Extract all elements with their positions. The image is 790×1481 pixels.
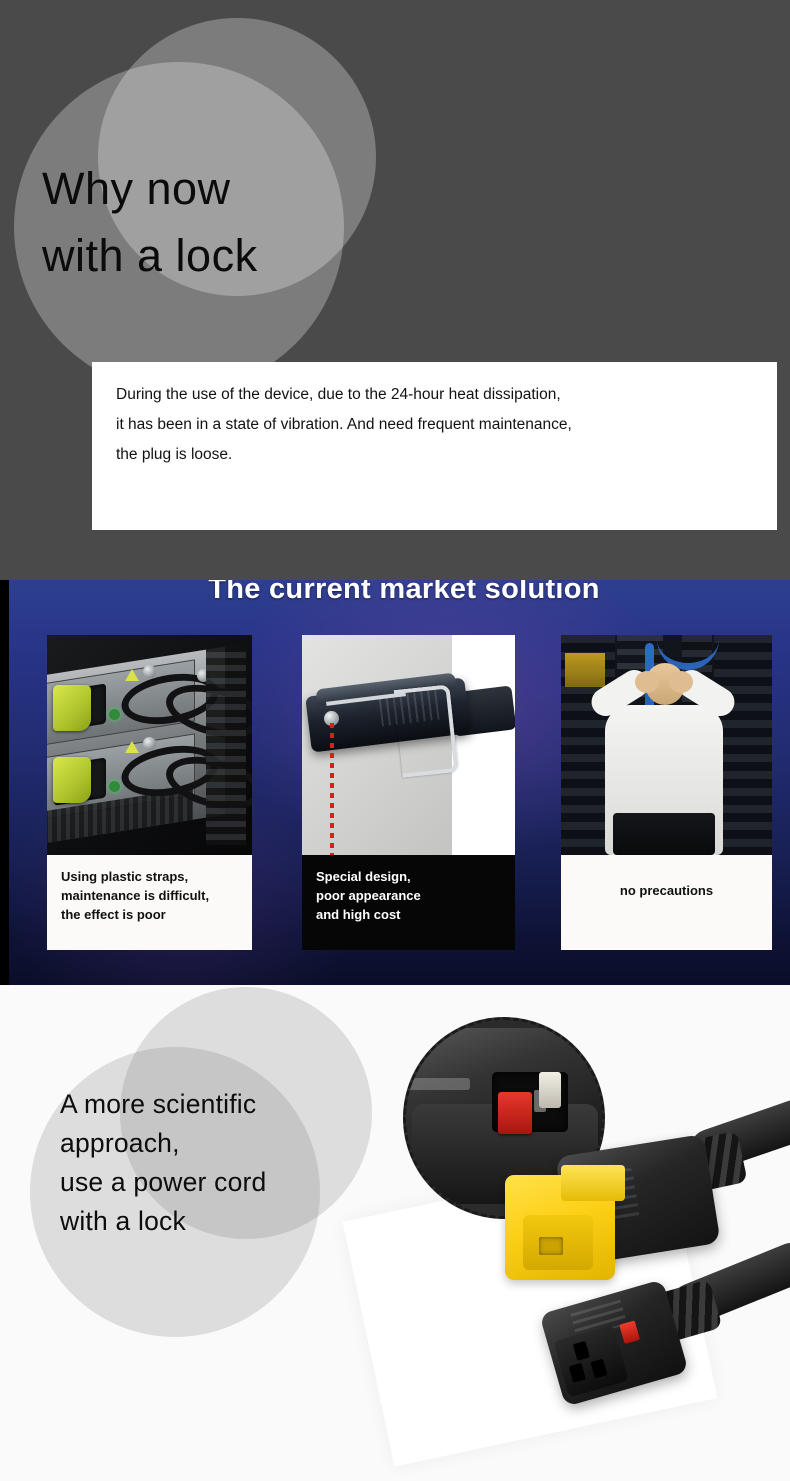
red-lock-button-icon bbox=[498, 1092, 532, 1134]
wire-retention-bracket bbox=[394, 684, 459, 777]
market-card: Using plastic straps, maintenance is dif… bbox=[47, 635, 252, 950]
technician-hand bbox=[635, 671, 659, 693]
rack-equipment-panel bbox=[565, 653, 605, 687]
market-card: Special design, poor appearance and high… bbox=[302, 635, 515, 950]
psu-scene bbox=[47, 635, 252, 855]
yellow-locking-plug bbox=[505, 1175, 615, 1280]
rack-screw bbox=[143, 737, 156, 750]
rack-screw bbox=[143, 665, 156, 678]
market-card: no precautions bbox=[561, 635, 772, 950]
data-center-scene bbox=[561, 635, 772, 855]
problem-statement-box: During the use of the device, due to the… bbox=[92, 362, 777, 530]
psu-handle bbox=[53, 757, 91, 803]
technician-photo bbox=[561, 635, 772, 855]
yellow-lock-tab bbox=[561, 1165, 625, 1201]
market-card-caption-text: Special design, poor appearance and high… bbox=[316, 867, 501, 924]
technician-hand bbox=[669, 671, 693, 693]
product-marketing-page: Why now with a lock During the use of th… bbox=[0, 0, 790, 1481]
server-psu-photo bbox=[47, 635, 252, 855]
product-photo bbox=[395, 995, 790, 1481]
market-card-caption: Using plastic straps, maintenance is dif… bbox=[47, 855, 252, 950]
psu-handle bbox=[53, 685, 91, 731]
market-card-caption-text: no precautions bbox=[575, 881, 758, 900]
hero-section: Why now with a lock During the use of th… bbox=[0, 0, 790, 580]
rack-vent bbox=[206, 645, 246, 845]
lock-latch bbox=[539, 1072, 561, 1108]
connector-seam bbox=[406, 1078, 470, 1090]
red-dotted-indicator-line bbox=[330, 723, 334, 855]
market-section-title: The current market solution bbox=[9, 580, 790, 606]
market-card-caption: no precautions bbox=[561, 855, 772, 950]
bracket-plug-photo bbox=[302, 635, 515, 855]
market-card-caption: Special design, poor appearance and high… bbox=[302, 855, 515, 950]
warning-triangle-icon bbox=[125, 741, 139, 753]
hero-title: Why now with a lock bbox=[42, 155, 462, 289]
warning-triangle-icon bbox=[125, 669, 139, 681]
problem-statement-text: During the use of the device, due to the… bbox=[116, 380, 755, 470]
technician-trousers bbox=[613, 813, 715, 855]
red-lock-button-icon bbox=[619, 1320, 640, 1344]
status-led bbox=[109, 781, 120, 792]
market-solution-section: The current market solution bbox=[0, 580, 790, 985]
plug-socket-hole bbox=[539, 1237, 563, 1255]
status-led bbox=[109, 709, 120, 720]
bracket-plug-scene bbox=[302, 635, 515, 855]
market-card-caption-text: Using plastic straps, maintenance is dif… bbox=[61, 867, 238, 924]
solution-section: A more scientific approach, use a power … bbox=[0, 985, 790, 1481]
